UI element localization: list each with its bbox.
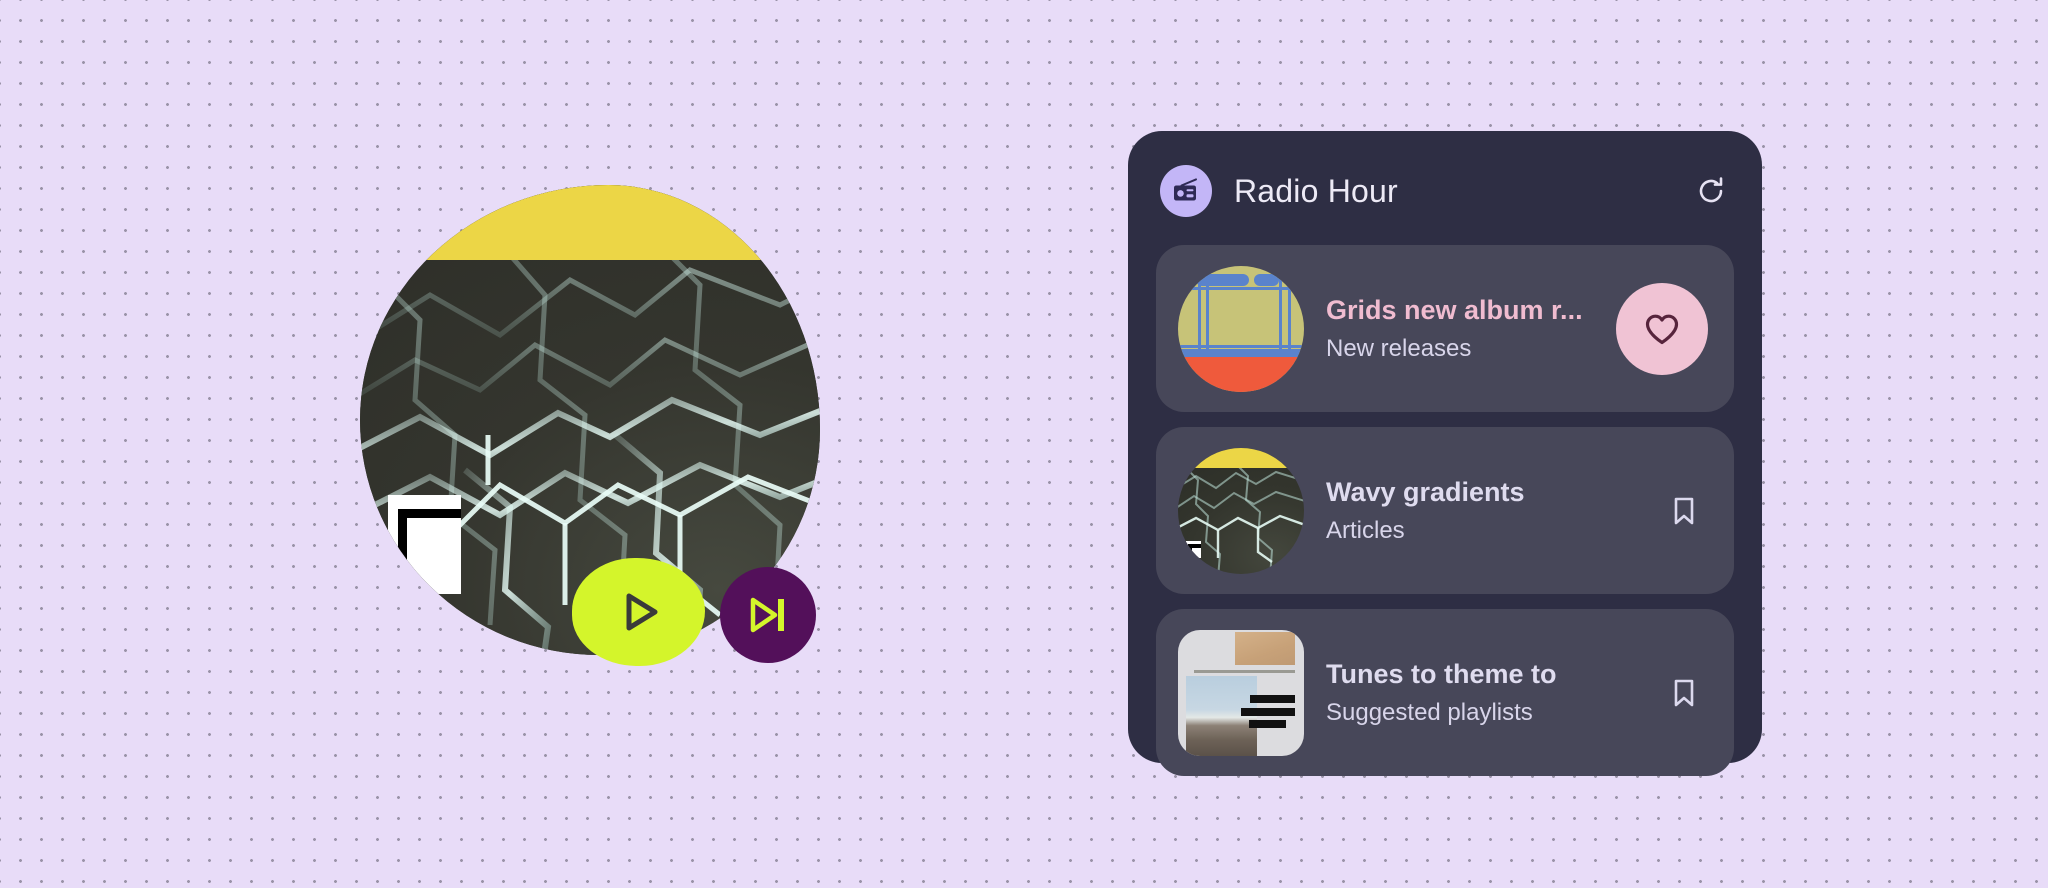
list-item-text: Wavy gradients Articles (1326, 477, 1638, 545)
artwork-white-square (388, 495, 462, 594)
grid-artwork-thumbnail (1178, 266, 1304, 392)
list-item[interactable]: Tunes to theme to Suggested playlists (1156, 609, 1734, 776)
refresh-icon (1694, 174, 1728, 208)
radio-glyph (1171, 176, 1201, 206)
list-item-text: Grids new album r... New releases (1326, 295, 1594, 363)
list-item-title: Wavy gradients (1326, 477, 1638, 508)
page-title: Radio Hour (1234, 173, 1398, 210)
card-header: Radio Hour (1160, 155, 1734, 227)
bookmark-button[interactable] (1660, 669, 1708, 717)
radio-hour-card: Radio Hour (1128, 131, 1762, 763)
artwork-yellow-band (360, 185, 820, 260)
list-item[interactable]: Grids new album r... New releases (1156, 245, 1734, 412)
list-item-title: Grids new album r... (1326, 295, 1594, 326)
wavy-gradient-thumbnail (1178, 448, 1304, 574)
app-background: Radio Hour (0, 0, 2048, 888)
bookmark-icon (1667, 494, 1701, 528)
play-icon (610, 583, 668, 641)
list-item[interactable]: Wavy gradients Articles (1156, 427, 1734, 594)
radio-icon (1160, 165, 1212, 217)
list-item-subtitle: Suggested playlists (1326, 699, 1638, 727)
photo-collage-thumbnail (1178, 630, 1304, 756)
skip-next-icon (744, 591, 792, 639)
play-button[interactable] (572, 558, 705, 666)
bookmark-icon (1667, 676, 1701, 710)
bookmark-button[interactable] (1660, 487, 1708, 535)
favorite-button[interactable] (1616, 283, 1708, 375)
radio-item-list: Grids new album r... New releases (1156, 245, 1734, 776)
heart-icon (1641, 308, 1683, 350)
refresh-button[interactable] (1688, 168, 1734, 214)
list-item-subtitle: Articles (1326, 517, 1638, 545)
list-item-subtitle: New releases (1326, 335, 1594, 363)
skip-next-button[interactable] (720, 567, 816, 663)
list-item-title: Tunes to theme to (1326, 659, 1638, 690)
list-item-text: Tunes to theme to Suggested playlists (1326, 659, 1638, 727)
